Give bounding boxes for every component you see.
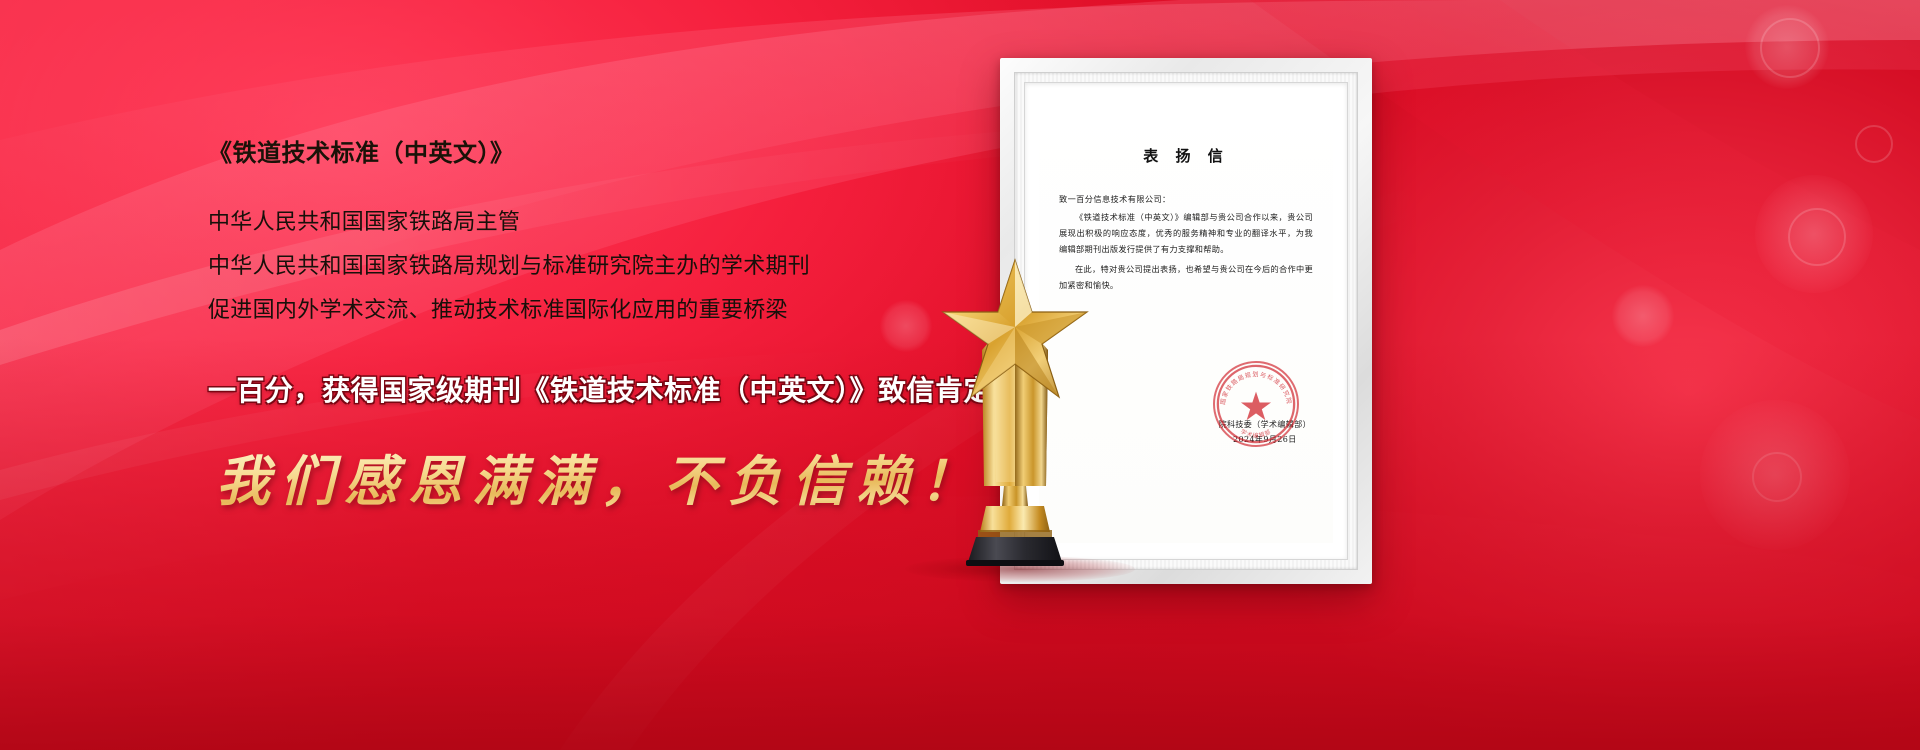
description-line-2: 中华人民共和国国家铁路局规划与标准研究院主办的学术期刊 [208,255,1028,277]
gratitude-slogan: 我们感恩满满，不负信赖！ [216,452,1028,511]
banner-text-column: 《铁道技术标准（中英文）》 中华人民共和国国家铁路局主管 中华人民共和国国家铁路… [208,140,1028,511]
certificate-signature: 院科技委（学术编辑部） 2024年9月26日 [1219,417,1311,447]
frame-mat: 表 扬 信 致一百分信息技术有限公司： 《铁道技术标准（中英文）》编辑部与贵公司… [1024,82,1348,560]
certificate-frame: 表 扬 信 致一百分信息技术有限公司： 《铁道技术标准（中英文）》编辑部与贵公司… [1000,58,1372,584]
description-line-3: 促进国内外学术交流、推动技术标准国际化应用的重要桥梁 [208,299,1028,321]
description-line-1: 中华人民共和国国家铁路局主管 [208,211,1028,233]
award-headline: 一百分，获得国家级期刊《铁道技术标准（中英文）》致信肯定! [208,373,1028,408]
award-banner: 《铁道技术标准（中英文）》 中华人民共和国国家铁路局主管 中华人民共和国国家铁路… [0,0,1920,750]
svg-text:国家铁路局规划与标准研究院: 国家铁路局规划与标准研究院 [1220,370,1294,405]
seal-top-text: 国家铁路局规划与标准研究院 [1220,370,1294,405]
journal-title: 《铁道技术标准（中英文）》 [208,140,1028,169]
certificate-paragraph-2: 在此，特对贵公司提出表扬，也希望与贵公司在今后的合作中更加紧密和愉快。 [1059,262,1313,294]
certificate-signature-date: 2024年9月26日 [1219,432,1311,447]
frame-inner-bevel: 表 扬 信 致一百分信息技术有限公司： 《铁道技术标准（中英文）》编辑部与贵公司… [1014,72,1358,570]
certificate-document: 表 扬 信 致一百分信息技术有限公司： 《铁道技术标准（中英文）》编辑部与贵公司… [1039,99,1333,543]
certificate-signature-org: 院科技委（学术编辑部） [1219,417,1311,432]
certificate-title: 表 扬 信 [1059,145,1313,166]
certificate-paragraph-1: 《铁道技术标准（中英文）》编辑部与贵公司合作以来，贵公司展现出积极的响应态度，优… [1059,210,1313,258]
certificate-salutation: 致一百分信息技术有限公司： [1059,192,1313,208]
